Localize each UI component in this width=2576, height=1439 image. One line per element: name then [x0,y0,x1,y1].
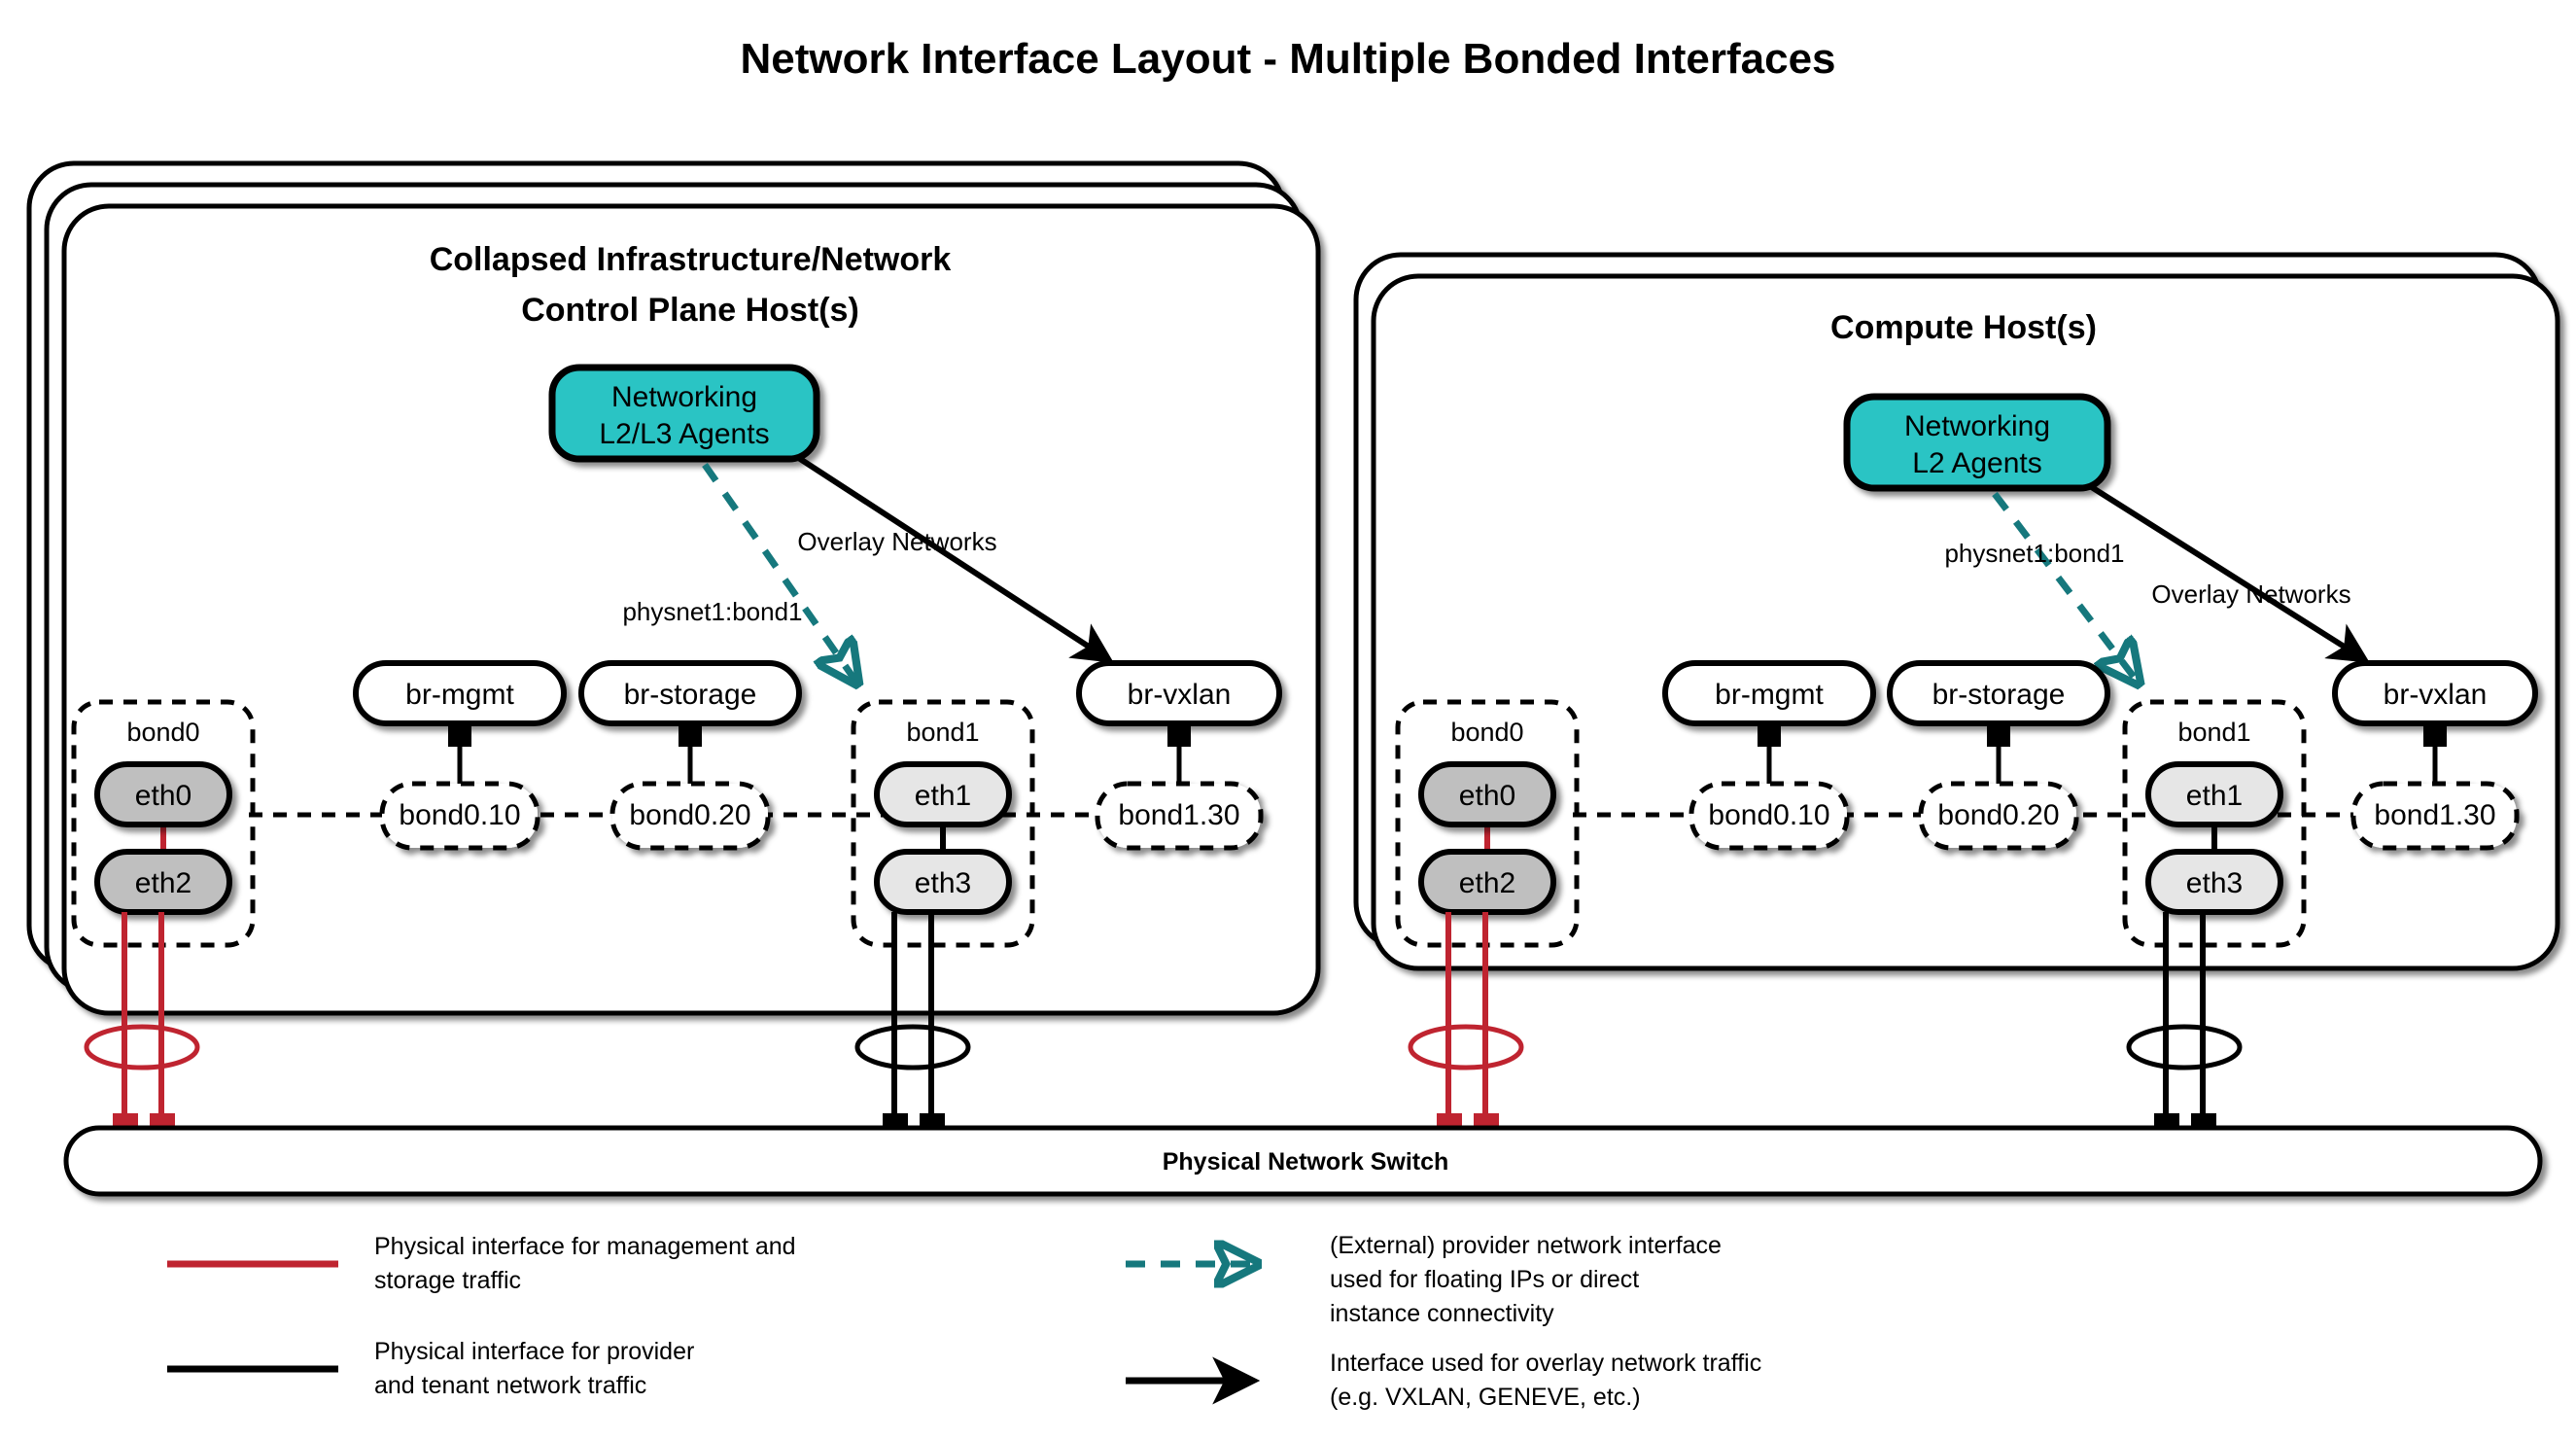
overlay-label: Overlay Networks [797,527,996,556]
br-vxlan-label: br-vxlan [1128,679,1232,711]
page-title: Network Interface Layout - Multiple Bond… [740,35,1835,83]
legend-item-provider-tenant: Physical interface for provider and tena… [167,1338,694,1399]
compute-br-storage-label: br-storage [1932,679,2066,711]
compute-bond1-30-label: bond1.30 [2374,799,2495,831]
eth2-label: eth2 [135,867,191,899]
agent-label-line2: L2/L3 Agents [599,418,769,450]
bond0-cable-bundle [87,1027,197,1068]
panel-control-plane: Collapsed Infrastructure/Network Control… [29,163,1318,1144]
bond0-20-label: bond0.20 [629,799,750,831]
compute-bond0-label: bond0 [1450,718,1523,747]
legend-overlay-text-line1: Interface used for overlay network traff… [1330,1350,1761,1377]
legend-mgmt-text-line1: Physical interface for management and [374,1233,796,1260]
compute-bond0-10-label: bond0.10 [1708,799,1829,831]
bond0-10-label: bond0.10 [399,799,520,831]
compute-bond1-label: bond1 [2177,718,2250,747]
compute-eth0-label: eth0 [1459,780,1515,812]
bond0-label: bond0 [126,718,199,747]
compute-bond0-cable-bundle [1410,1027,1521,1068]
physical-network-switch[interactable]: Physical Network Switch [66,1128,2540,1194]
panel-title-line2: Control Plane Host(s) [521,292,859,329]
legend-overlay-text-line2: (e.g. VXLAN, GENEVE, etc.) [1330,1384,1641,1411]
eth1-label: eth1 [915,780,971,812]
compute-bond1-cable-bundle [2129,1027,2240,1068]
legend-mgmt-text-line2: storage traffic [374,1267,521,1294]
compute-eth1-label: eth1 [2186,780,2243,812]
legend-item-external-provider: (External) provider network interface us… [1126,1232,1722,1327]
legend-external-text-line2: used for floating IPs or direct [1330,1266,1639,1293]
legend-item-mgmt-storage: Physical interface for management and st… [167,1233,796,1294]
legend-external-text-line3: instance connectivity [1330,1300,1554,1327]
br-storage-label: br-storage [624,679,757,711]
bond1-label: bond1 [906,718,979,747]
legend-external-text-line1: (External) provider network interface [1330,1232,1722,1259]
switch-label: Physical Network Switch [1163,1148,1449,1176]
compute-bond0-20-label: bond0.20 [1937,799,2059,831]
legend: Physical interface for management and st… [167,1232,1761,1411]
legend-item-overlay: Interface used for overlay network traff… [1126,1350,1761,1411]
compute-br-mgmt-label: br-mgmt [1715,679,1824,711]
eth3-label: eth3 [915,867,971,899]
compute-overlay-label: Overlay Networks [2151,579,2350,609]
legend-provider-text-line2: and tenant network traffic [374,1372,646,1399]
br-mgmt-label: br-mgmt [405,679,514,711]
bond1-30-label: bond1.30 [1118,799,1239,831]
panel-compute: Compute Host(s) Networking L2 Agents phy… [1356,255,2558,1144]
compute-br-vxlan-label: br-vxlan [2384,679,2488,711]
agent-label-line1: Networking [611,381,757,413]
eth0-label: eth0 [135,780,191,812]
bond1-cable-bundle [857,1027,968,1068]
compute-agent-label-line1: Networking [1904,410,2050,442]
panel-title-line1: Collapsed Infrastructure/Network [430,241,952,278]
compute-eth2-label: eth2 [1459,867,1515,899]
compute-agent-label-line2: L2 Agents [1912,447,2041,479]
diagram-canvas: Network Interface Layout - Multiple Bond… [0,0,2576,1439]
compute-physnet-label: physnet1:bond1 [1944,539,2124,568]
compute-panel-title: Compute Host(s) [1830,309,2097,346]
legend-provider-text-line1: Physical interface for provider [374,1338,694,1365]
compute-eth3-label: eth3 [2186,867,2243,899]
physnet-label: physnet1:bond1 [622,597,802,626]
network-diagram: Network Interface Layout - Multiple Bond… [0,0,2576,1439]
